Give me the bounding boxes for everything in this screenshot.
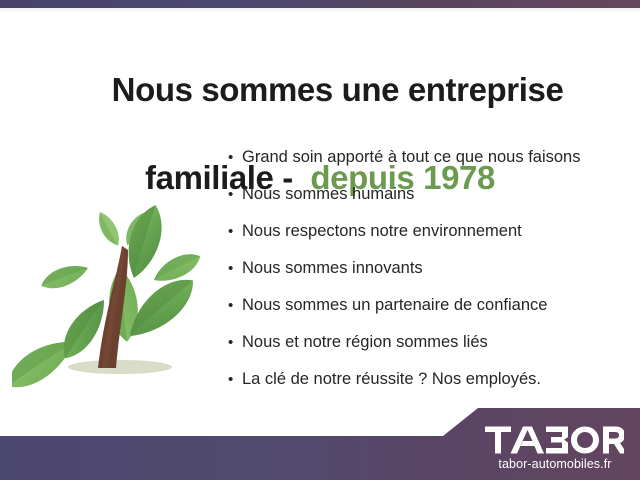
list-item-label: Nous et notre région sommes liés (242, 333, 488, 352)
bullet-icon: • (228, 150, 242, 165)
bullet-icon: • (228, 224, 242, 239)
bullet-icon: • (228, 298, 242, 313)
tabor-wordmark-icon (484, 425, 626, 455)
brand-logo[interactable]: tabor-automobiles.fr (484, 425, 626, 471)
headline-line-1: Nous sommes une entreprise (112, 71, 564, 108)
list-item: • Nous sommes humains (228, 185, 628, 222)
leaf (93, 209, 124, 249)
list-item-label: Nous sommes innovants (242, 259, 423, 278)
leaf (38, 259, 91, 294)
tree-shadow (68, 360, 172, 374)
list-item: • Nous respectons notre environnement (228, 222, 628, 259)
bullet-icon: • (228, 335, 242, 350)
list-item: • Nous sommes innovants (228, 259, 628, 296)
list-item-label: Nous respectons notre environnement (242, 222, 522, 241)
brand-tagline: tabor-automobiles.fr (484, 457, 626, 471)
bullet-icon: • (228, 261, 242, 276)
list-item: • Nous et notre région sommes liés (228, 333, 628, 370)
list-item-label: Grand soin apporté à tout ce que nous fa… (242, 148, 580, 167)
tree-illustration (12, 150, 222, 390)
bullet-icon: • (228, 372, 242, 387)
top-accent-bar (0, 0, 640, 8)
list-item: • Nous sommes un partenaire de confiance (228, 296, 628, 333)
list-item-label: Nous sommes un partenaire de confiance (242, 296, 547, 315)
list-item-label: Nous sommes humains (242, 185, 414, 204)
footer-bar: tabor-automobiles.fr (0, 400, 640, 480)
top-bar-fade (0, 8, 640, 13)
list-item-label: La clé de notre réussite ? Nos employés. (242, 370, 541, 389)
bullet-icon: • (228, 187, 242, 202)
slide-root: Nous sommes une entreprise familiale - d… (0, 0, 640, 480)
list-item: • Grand soin apporté à tout ce que nous … (228, 148, 628, 185)
value-list: • Grand soin apporté à tout ce que nous … (228, 148, 628, 407)
